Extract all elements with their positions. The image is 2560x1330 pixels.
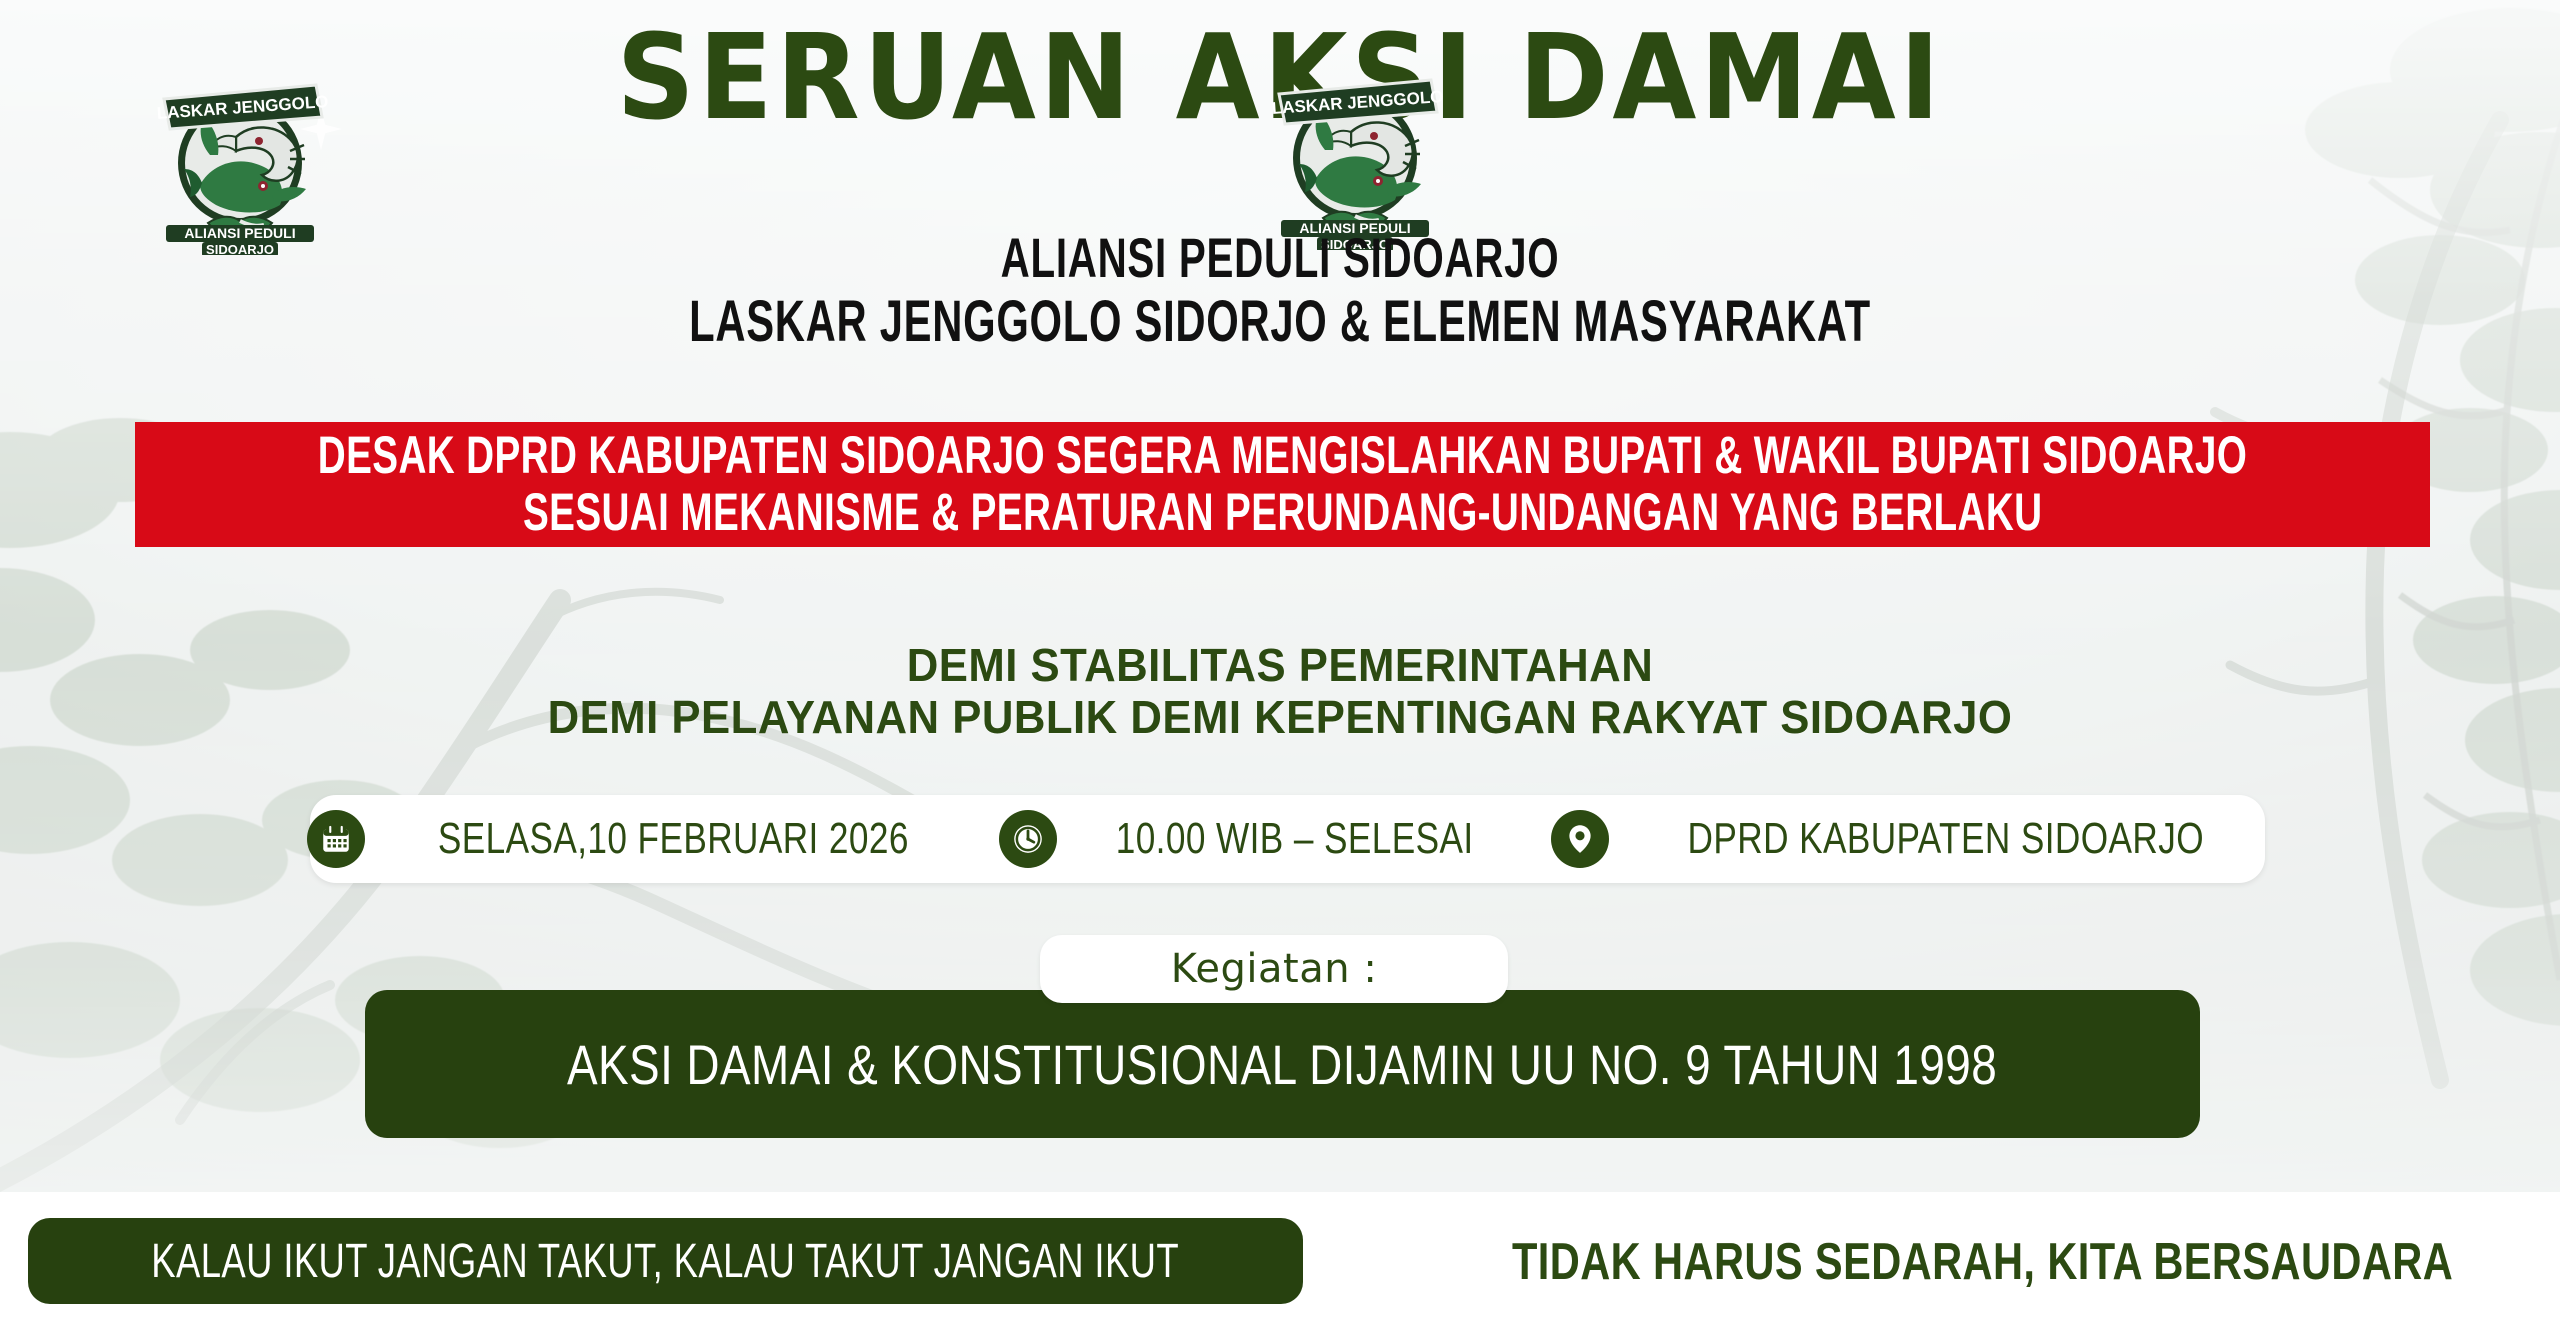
logo-laskar-jenggolo-left: LASKAR JENGGOLO ALIANSI PEDULI SIDOARJO — [140, 55, 340, 255]
activity-box: AKSI DAMAI & KONSTITUSIONAL DIJAMIN UU N… — [365, 990, 2200, 1138]
activity-label-pill: Kegiatan : — [1040, 935, 1508, 1003]
event-detail-time: 10.00 WIB – SELESAI — [983, 810, 1534, 868]
poster-content: SERUAN AKSI DAMAI LASKAR JENG — [0, 0, 2560, 1330]
slogan-line-2: DEMI PELAYANAN PUBLIK DEMI KEPENTINGAN R… — [64, 690, 2496, 744]
event-time-text: 10.00 WIB – SELESAI — [1116, 814, 1474, 864]
event-location-text: DPRD KABUPATEN SIDOARJO — [1687, 814, 2203, 864]
event-details-bar: SELASA,10 FEBRUARI 2026 10.00 WIB – SELE… — [310, 795, 2265, 883]
activity-label-text: Kegiatan : — [1171, 946, 1378, 992]
footer-pill-text: KALAU IKUT JANGAN TAKUT, KALAU TAKUT JAN… — [152, 1234, 1180, 1289]
poster-canvas: SERUAN AKSI DAMAI LASKAR JENG — [0, 0, 2560, 1330]
event-detail-date: SELASA,10 FEBRUARI 2026 — [291, 810, 984, 868]
location-pin-icon — [1551, 810, 1609, 868]
event-date-text: SELASA,10 FEBRUARI 2026 — [438, 814, 909, 864]
event-detail-location: DPRD KABUPATEN SIDOARJO — [1535, 810, 2285, 868]
footer-side-text: TIDAK HARUS SEDARAH, KITA BERSAUDARA — [1512, 1232, 2408, 1292]
logo-bottom-line2: SIDOARJO — [206, 242, 274, 255]
demand-line-1: DESAK DPRD KABUPATEN SIDOARJO SEGERA MEN… — [318, 428, 2247, 484]
organization-line-2: LASKAR JENGGOLO SIDORJO & ELEMEN MASYARA… — [358, 288, 2201, 355]
logo-bottom-line1: ALIANSI PEDULI — [184, 225, 295, 241]
activity-text: AKSI DAMAI & KONSTITUSIONAL DIJAMIN UU N… — [567, 1032, 1997, 1097]
clock-icon — [999, 810, 1057, 868]
organization-line-1: ALIANSI PEDULI SIDOARJO — [358, 225, 2201, 290]
footer-slogan-pill: KALAU IKUT JANGAN TAKUT, KALAU TAKUT JAN… — [28, 1218, 1303, 1304]
slogan-line-1: DEMI STABILITAS PEMERINTAHAN — [64, 638, 2496, 692]
footer-bar: KALAU IKUT JANGAN TAKUT, KALAU TAKUT JAN… — [0, 1192, 2560, 1330]
demand-line-2: SESUAI MEKANISME & PERATURAN PERUNDANG-U… — [523, 485, 2042, 541]
demand-banner: DESAK DPRD KABUPATEN SIDOARJO SEGERA MEN… — [135, 422, 2430, 547]
logo-laskar-jenggolo-right: LASKAR JENGGOLO ALIANSI PEDULI SIDOARJO — [1255, 50, 1455, 250]
calendar-icon — [307, 810, 365, 868]
